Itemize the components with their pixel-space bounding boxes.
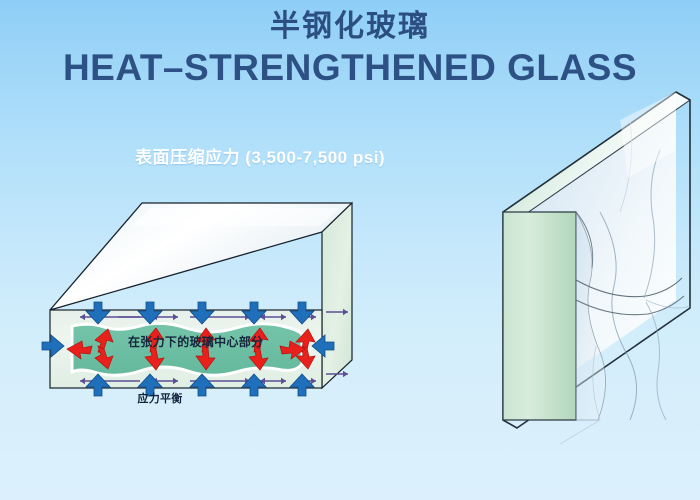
panel-left-edge [503,212,576,420]
stress-balance-label: 应力平衡 [0,390,320,406]
surface-compression-label: 表面压缩应力 (3,500-7,500 psi) [135,143,385,168]
glass-slab-diagram [42,203,352,396]
crack-line-5 [646,302,666,420]
fractured-glass-panel [503,92,690,444]
diagram-artwork [0,0,700,500]
slab-right-side [322,203,352,388]
core-tension-label: 在张力下的玻璃中心部分 [128,333,263,350]
slab-top-gloss [132,208,340,226]
illustration-canvas: 半钢化玻璃 HEAT–STRENGTHENED GLASS 表面压缩应力 (3,… [0,0,700,500]
